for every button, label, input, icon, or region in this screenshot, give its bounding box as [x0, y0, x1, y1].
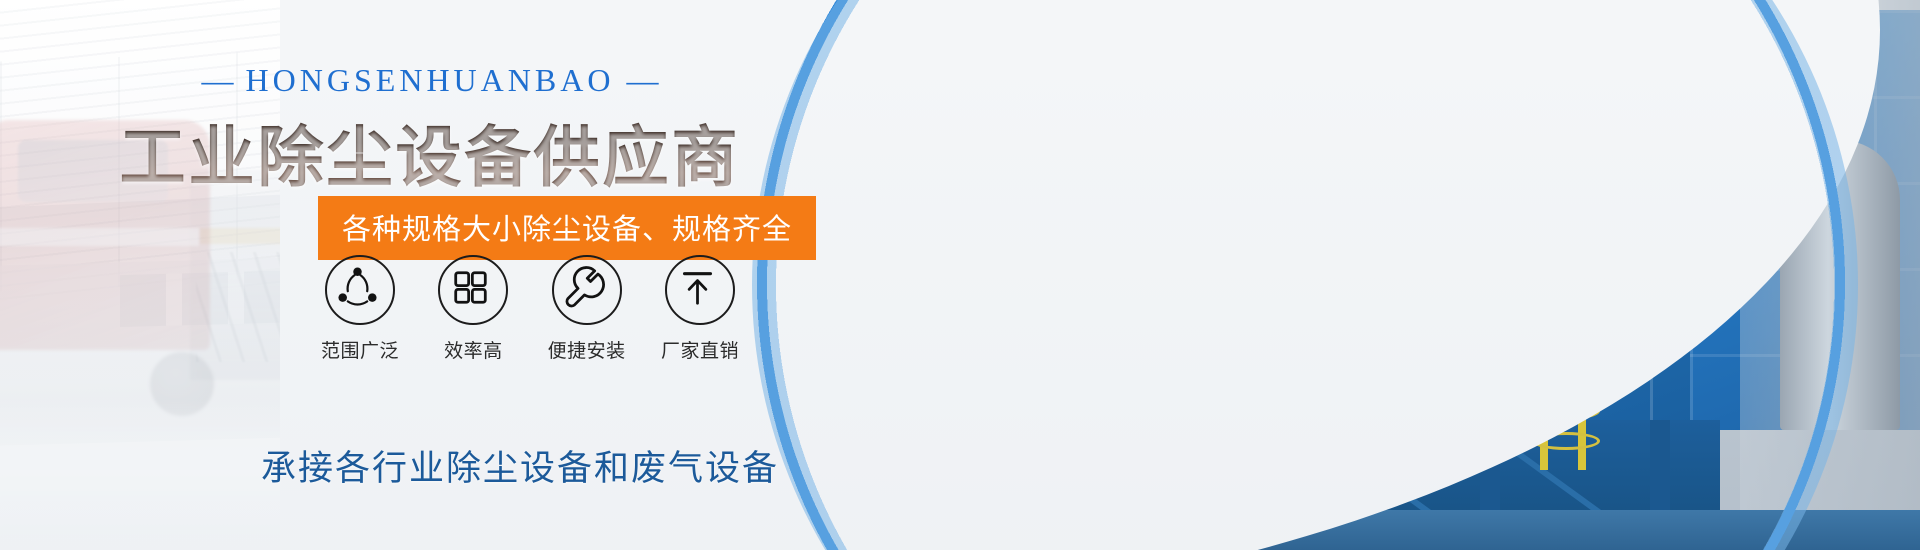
feature-item-efficiency[interactable]: 效率高	[423, 255, 523, 363]
feature-item-direct-sales[interactable]: 厂家直销	[650, 255, 750, 363]
eyebrow-text: HONGSENHUANBAO	[246, 62, 615, 98]
feature-item-installation[interactable]: 便捷安装	[537, 255, 637, 363]
network-nodes-icon	[325, 255, 395, 325]
banner-content: —HONGSENHUANBAO— 工业除尘设备供应商 各种规格大小除尘设备、规格…	[0, 0, 1100, 550]
feature-label: 厂家直销	[650, 336, 750, 363]
upload-arrow-icon	[665, 255, 735, 325]
feature-label: 效率高	[423, 336, 523, 363]
wrench-circle-icon	[552, 255, 622, 325]
eyebrow-dash-left: —	[190, 62, 246, 98]
feature-list: 范围广泛 效率高	[310, 255, 750, 363]
feature-label: 便捷安装	[537, 336, 637, 363]
four-squares-grid-icon	[438, 255, 508, 325]
feature-label: 范围广泛	[310, 336, 410, 363]
page-title: 工业除尘设备供应商	[0, 104, 860, 200]
subtitle-highlight-bar: 各种规格大小除尘设备、规格齐全	[318, 196, 816, 260]
brand-eyebrow: —HONGSENHUANBAO—	[0, 62, 860, 99]
eyebrow-dash-right: —	[614, 62, 670, 98]
tagline: 承接各行业除尘设备和废气设备	[0, 440, 1040, 491]
feature-item-coverage[interactable]: 范围广泛	[310, 255, 410, 363]
promo-banner: 保 13132 7001 —HONGSENHUANBAO— 工业除尘设备供应商 …	[0, 0, 1920, 550]
